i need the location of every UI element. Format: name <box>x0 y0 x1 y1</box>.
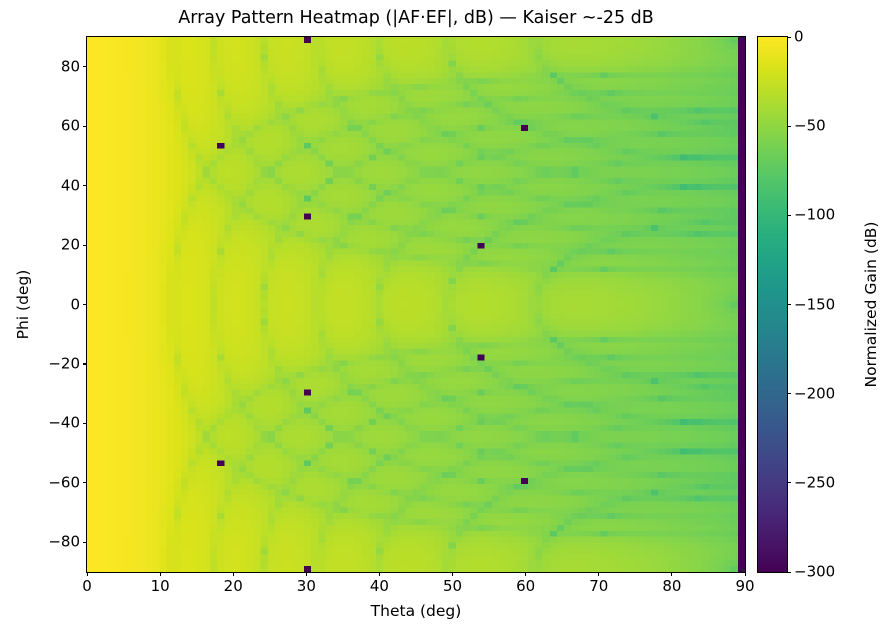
x-tick-label: 30 <box>297 579 316 594</box>
colorbar-tick-mark <box>787 482 791 483</box>
x-tick-mark <box>452 572 453 576</box>
y-tick-mark <box>83 245 87 246</box>
y-tick-mark <box>83 126 87 127</box>
colorbar-tick-mark <box>787 304 791 305</box>
x-tick-mark <box>87 572 88 576</box>
x-tick-mark <box>525 572 526 576</box>
y-tick-mark <box>83 542 87 543</box>
colorbar-tick-label: −300 <box>794 565 835 580</box>
colorbar-gradient <box>758 37 787 572</box>
colorbar[interactable] <box>757 36 788 573</box>
y-tick-label: 20 <box>39 238 80 253</box>
y-tick-label: −40 <box>39 416 80 431</box>
colorbar-tick-label: 0 <box>794 30 804 45</box>
x-tick-label: 20 <box>224 579 243 594</box>
colorbar-tick-label: −50 <box>794 119 826 134</box>
x-tick-label: 90 <box>735 579 754 594</box>
x-tick-mark <box>160 572 161 576</box>
heatmap-plot-area[interactable] <box>86 36 746 573</box>
x-tick-mark <box>745 572 746 576</box>
x-tick-label: 80 <box>662 579 681 594</box>
y-tick-label: −20 <box>39 356 80 371</box>
x-tick-mark <box>233 572 234 576</box>
y-tick-mark <box>83 482 87 483</box>
x-tick-mark <box>598 572 599 576</box>
colorbar-label: Normalized Gain (dB) <box>862 37 880 572</box>
y-tick-label: 80 <box>39 59 80 74</box>
y-tick-label: −80 <box>39 535 80 550</box>
y-tick-label: 40 <box>39 178 80 193</box>
colorbar-tick-label: −100 <box>794 208 835 223</box>
y-tick-label: −60 <box>39 475 80 490</box>
colorbar-tick-label: −250 <box>794 475 835 490</box>
y-tick-mark <box>83 66 87 67</box>
page-title: Array Pattern Heatmap (|AF·EF|, dB) — Ka… <box>87 7 745 29</box>
x-tick-label: 10 <box>151 579 170 594</box>
y-tick-mark <box>83 423 87 424</box>
colorbar-tick-label: −150 <box>794 297 835 312</box>
y-tick-mark <box>83 363 87 364</box>
y-tick-label: 0 <box>39 297 80 312</box>
x-tick-label: 0 <box>82 579 92 594</box>
colorbar-tick-mark <box>787 215 791 216</box>
colorbar-tick-mark <box>787 37 791 38</box>
figure-canvas: Array Pattern Heatmap (|AF·EF|, dB) — Ka… <box>0 0 885 637</box>
x-tick-mark <box>306 572 307 576</box>
x-tick-mark <box>379 572 380 576</box>
colorbar-tick-mark <box>787 126 791 127</box>
x-tick-label: 50 <box>443 579 462 594</box>
y-tick-label: 60 <box>39 119 80 134</box>
heatmap-image[interactable] <box>87 37 745 572</box>
colorbar-tick-label: −200 <box>794 386 835 401</box>
x-tick-label: 40 <box>370 579 389 594</box>
x-tick-label: 70 <box>589 579 608 594</box>
y-axis-label: Phi (deg) <box>14 37 32 572</box>
x-axis-label: Theta (deg) <box>87 602 745 620</box>
y-tick-mark <box>83 185 87 186</box>
y-tick-mark <box>83 304 87 305</box>
x-tick-label: 60 <box>516 579 535 594</box>
x-tick-mark <box>671 572 672 576</box>
colorbar-tick-mark <box>787 393 791 394</box>
colorbar-tick-mark <box>787 572 791 573</box>
